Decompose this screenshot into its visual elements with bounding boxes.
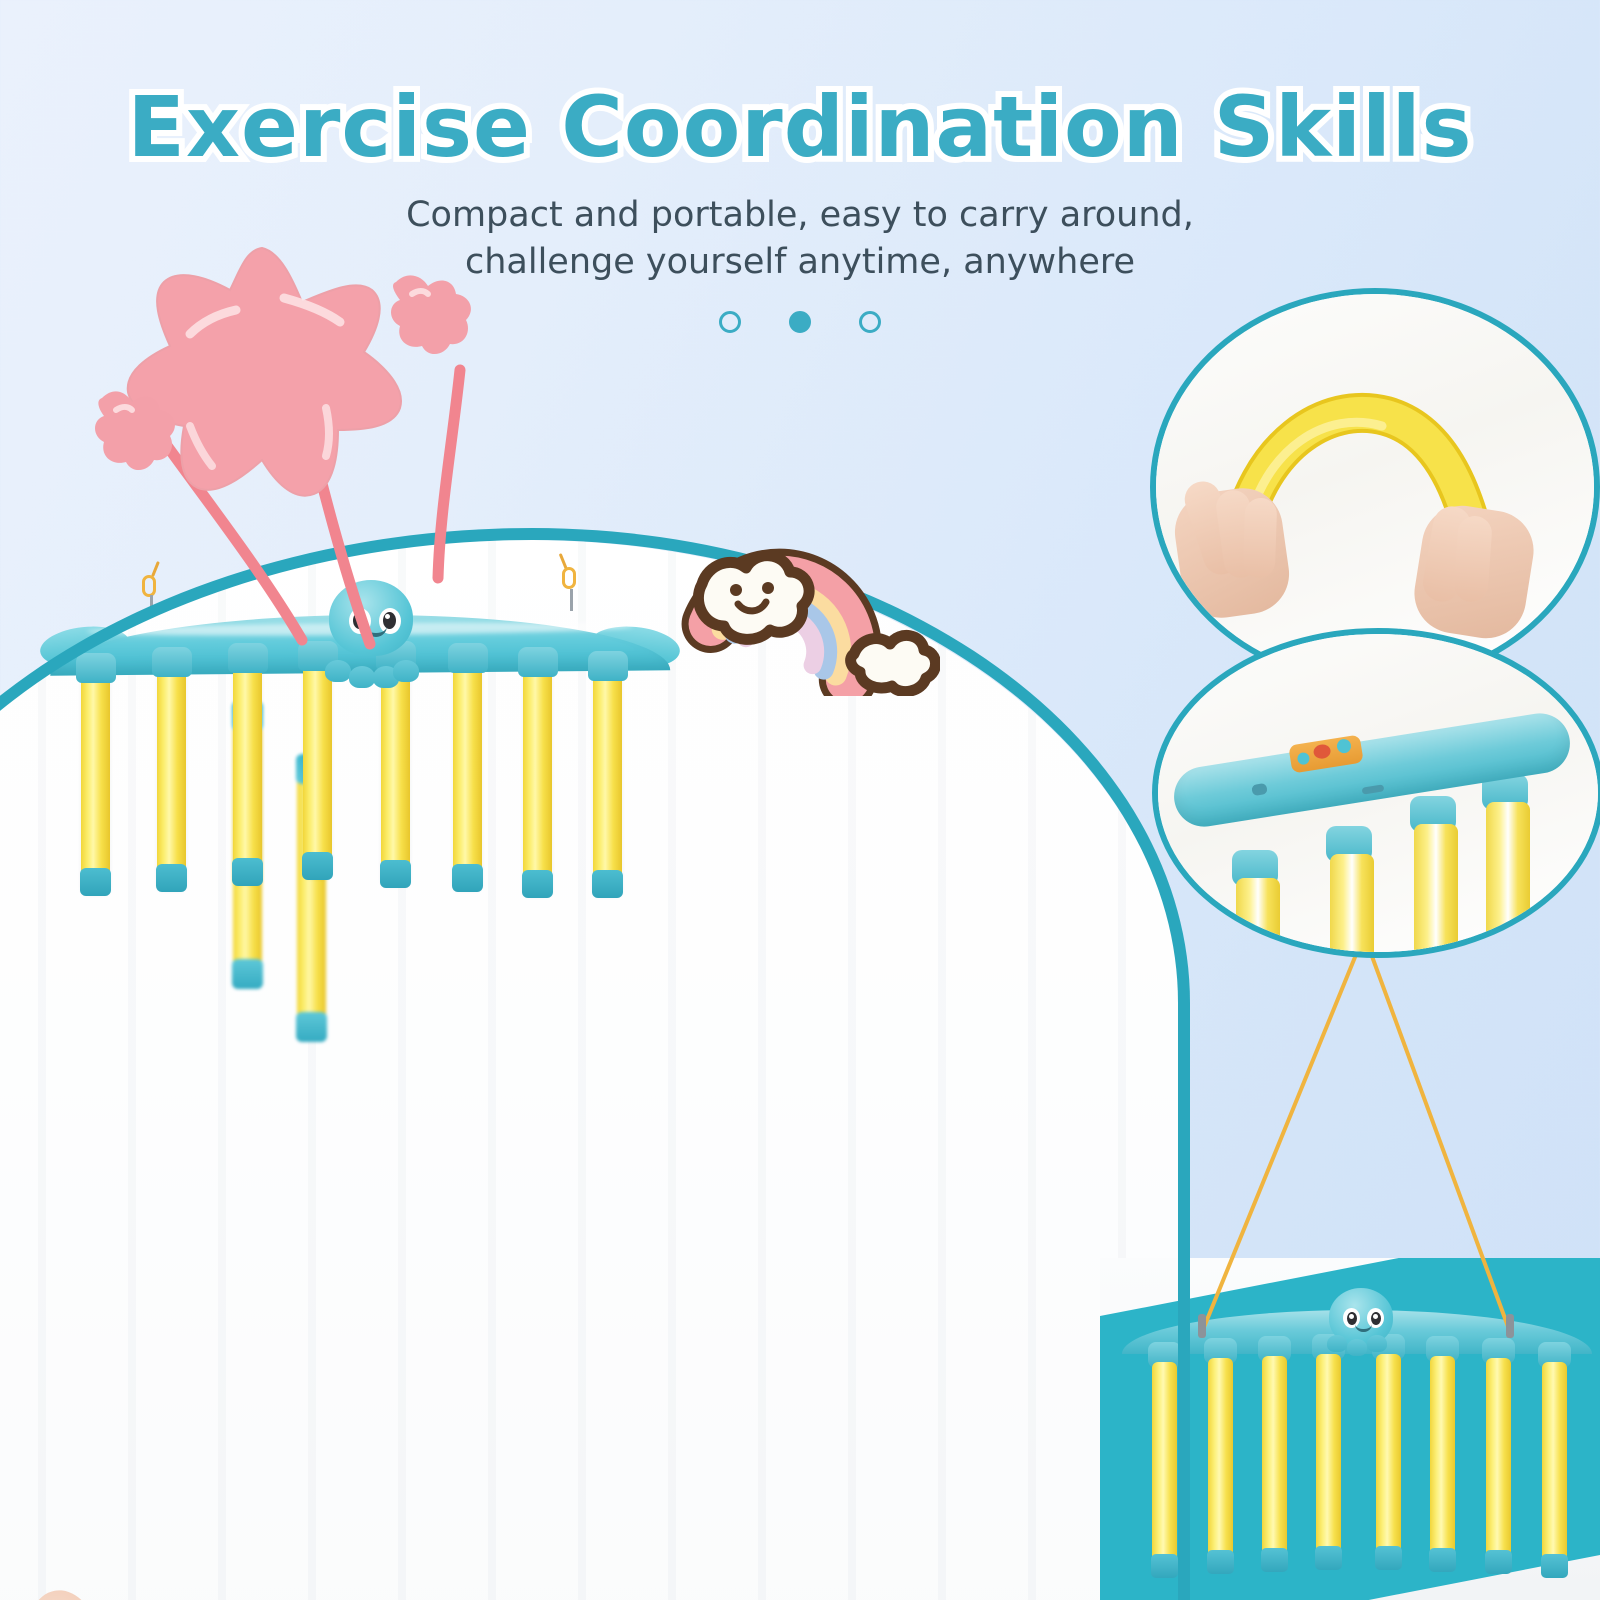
br-stick-7 [1486, 1358, 1511, 1570]
closeup-stick-1 [1236, 878, 1280, 958]
star-trail-right [438, 370, 460, 578]
pagination-dot-1[interactable] [719, 311, 741, 333]
rainbow-cloud-left [698, 556, 809, 640]
br-stick-2 [1208, 1358, 1233, 1570]
inset-flexible-stick-bend-demo [1150, 288, 1600, 686]
pagination-dot-2-active[interactable] [789, 311, 811, 333]
subtitle-line-1: Compact and portable, easy to carry arou… [0, 192, 1600, 239]
closeup-stick-3 [1414, 824, 1458, 958]
right-middle-finger [1453, 515, 1493, 603]
subtitle-line-2: challenge yourself anytime, anywhere [0, 239, 1600, 286]
closeup-stick-4 [1486, 802, 1530, 952]
br-stick-3 [1262, 1356, 1287, 1568]
rainbow-with-cloud-decoration [672, 528, 940, 696]
br-stick-8 [1542, 1362, 1567, 1574]
page-subtitle: Compact and portable, easy to carry arou… [0, 192, 1600, 285]
cloud-eye-right [762, 582, 774, 594]
connector-hook-right [1506, 1314, 1514, 1338]
pagination-dots[interactable] [0, 311, 1600, 333]
page-title: Exercise Coordination Skills [0, 78, 1600, 176]
inset-control-panel-closeup [1152, 628, 1600, 958]
control-button-3[interactable] [1336, 738, 1352, 754]
control-button-1[interactable] [1297, 752, 1311, 766]
control-button-2[interactable] [1313, 743, 1332, 759]
br-stick-4 [1316, 1354, 1341, 1566]
banner-header: Exercise Coordination Skills Compact and… [0, 0, 1600, 333]
teal-arc-divider [0, 528, 1190, 1600]
connector-hanging-cords [1150, 940, 1600, 1340]
connector-hook-left [1198, 1314, 1206, 1338]
br-stick-5 [1376, 1354, 1401, 1566]
br-stick-6 [1430, 1356, 1455, 1568]
left-ring-finger [1243, 497, 1278, 578]
connector-cord-right [1366, 940, 1510, 1332]
cloud-eye-left [730, 584, 742, 596]
closeup-stick-2 [1330, 854, 1374, 958]
connector-cord-left [1202, 940, 1362, 1332]
rainbow-cloud-right [851, 635, 936, 691]
pagination-dot-3[interactable] [859, 311, 881, 333]
